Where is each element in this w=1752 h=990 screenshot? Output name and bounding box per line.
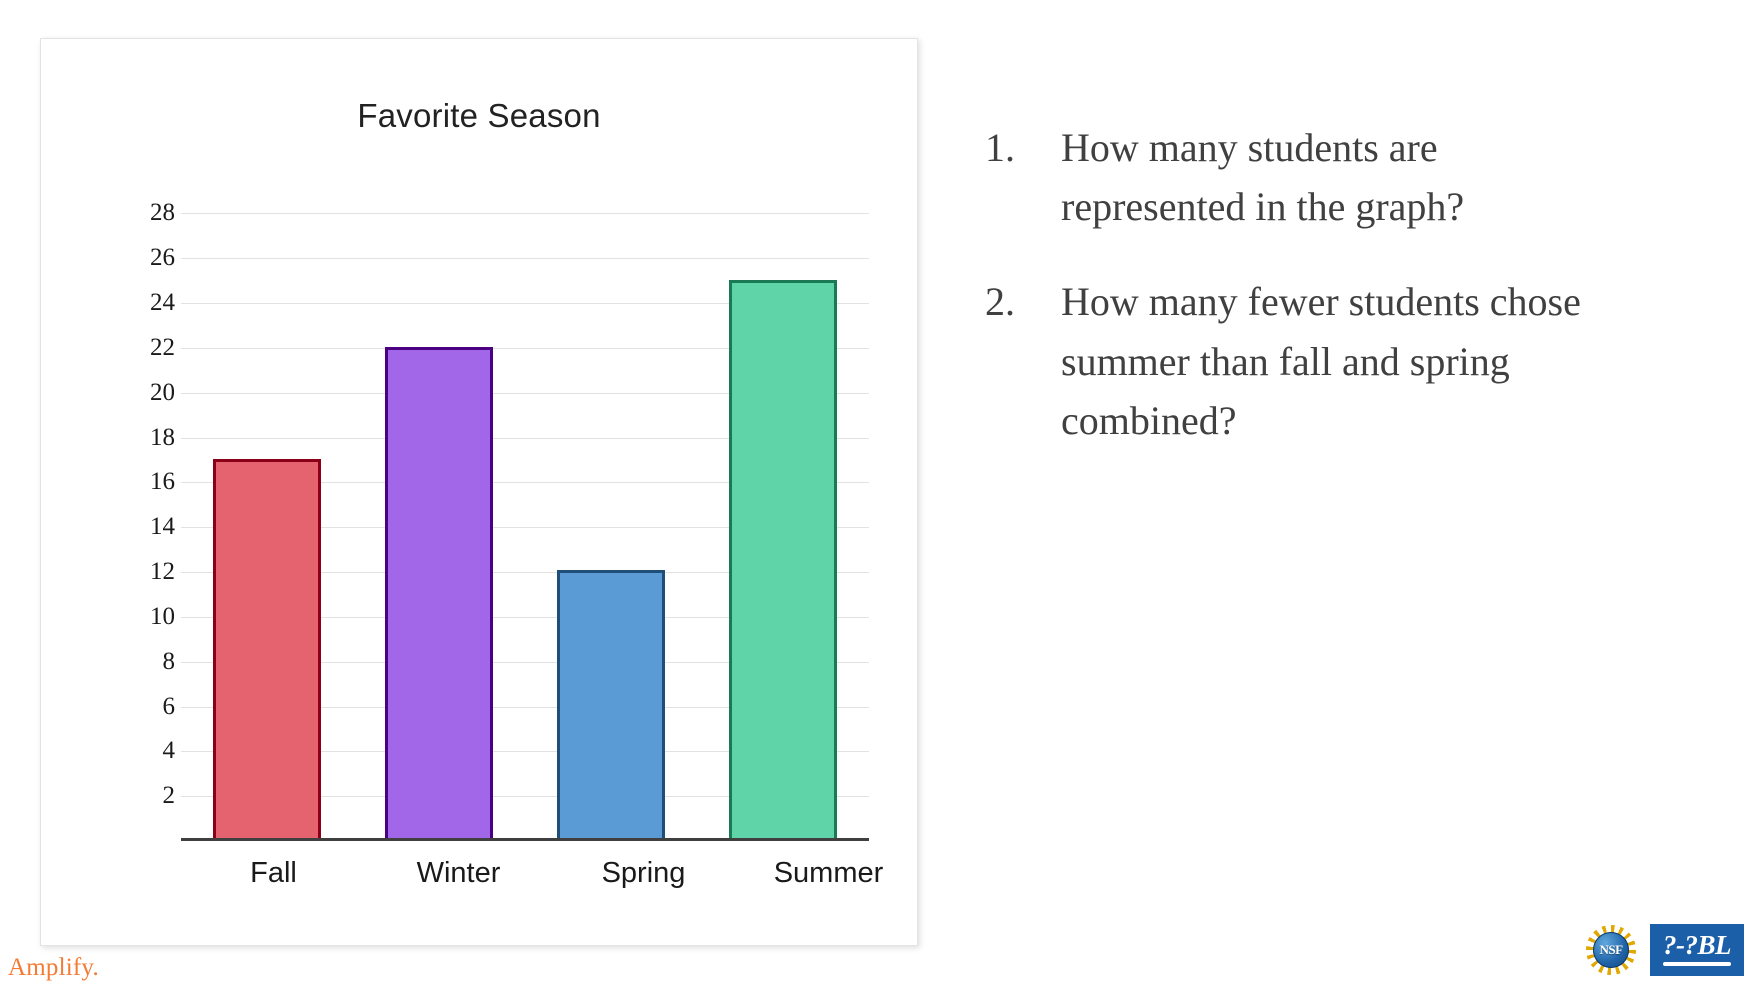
x-axis-label-spring: Spring bbox=[551, 857, 736, 890]
y-axis-tick-label: 18 bbox=[150, 424, 175, 452]
question-number: 1. bbox=[985, 118, 1061, 177]
bar-spring[interactable] bbox=[557, 570, 665, 838]
y-axis-tick-label: 6 bbox=[163, 693, 176, 721]
question-item: 1.How many students are represented in t… bbox=[985, 118, 1645, 236]
x-axis-line bbox=[181, 838, 869, 841]
y-axis-tick-label: 4 bbox=[163, 737, 176, 765]
y-axis-tick-label: 12 bbox=[150, 558, 175, 586]
question-number: 2. bbox=[985, 272, 1061, 331]
bar-slot bbox=[525, 191, 697, 838]
y-axis-tick-label: 26 bbox=[150, 244, 175, 272]
question-text: How many students are represented in the… bbox=[1061, 118, 1621, 236]
questions-list: 1.How many students are represented in t… bbox=[985, 118, 1645, 486]
amplify-logo: Amplify. bbox=[8, 954, 99, 982]
bar-winter[interactable] bbox=[385, 347, 493, 838]
bar-slot bbox=[353, 191, 525, 838]
y-axis-tick-label: 28 bbox=[150, 199, 175, 227]
question-text: How many fewer students chose summer tha… bbox=[1061, 272, 1621, 450]
x-axis-label-winter: Winter bbox=[366, 857, 551, 890]
bars-layer bbox=[181, 191, 869, 838]
y-axis-tick-label: 20 bbox=[150, 379, 175, 407]
y-axis-tick-label: 14 bbox=[150, 513, 175, 541]
question-item: 2.How many fewer students chose summer t… bbox=[985, 272, 1645, 450]
y-axis-tick-label: 2 bbox=[163, 782, 176, 810]
bar-fall[interactable] bbox=[213, 459, 321, 838]
nsf-logo-icon: NSF bbox=[1586, 925, 1636, 975]
footer-logo-group: NSF ?-?BL bbox=[1586, 924, 1744, 976]
plot-area: 282624222018161412108642 bbox=[129, 191, 869, 841]
x-axis-label-fall: Fall bbox=[181, 857, 366, 890]
y-axis-tick-label: 10 bbox=[150, 603, 175, 631]
ppbl-logo-icon: ?-?BL bbox=[1650, 924, 1744, 976]
bar-summer[interactable] bbox=[729, 280, 837, 838]
ppbl-underline bbox=[1663, 962, 1731, 966]
y-axis-tick-label: 8 bbox=[163, 648, 176, 676]
y-axis-tick-label: 22 bbox=[150, 334, 175, 362]
bar-slot bbox=[697, 191, 869, 838]
x-axis-label-layer: FallWinterSpringSummer bbox=[181, 857, 921, 890]
y-axis-tick-label: 24 bbox=[150, 289, 175, 317]
ppbl-label: ?-?BL bbox=[1663, 932, 1731, 959]
bar-slot bbox=[181, 191, 353, 838]
y-axis-tick-label: 16 bbox=[150, 468, 175, 496]
chart-title: Favorite Season bbox=[41, 97, 917, 135]
slide-canvas: Favorite Season 282624222018161412108642… bbox=[0, 0, 1752, 990]
chart-card: Favorite Season 282624222018161412108642… bbox=[40, 38, 918, 946]
x-axis-label-summer: Summer bbox=[736, 857, 921, 890]
nsf-label: NSF bbox=[1586, 925, 1636, 975]
